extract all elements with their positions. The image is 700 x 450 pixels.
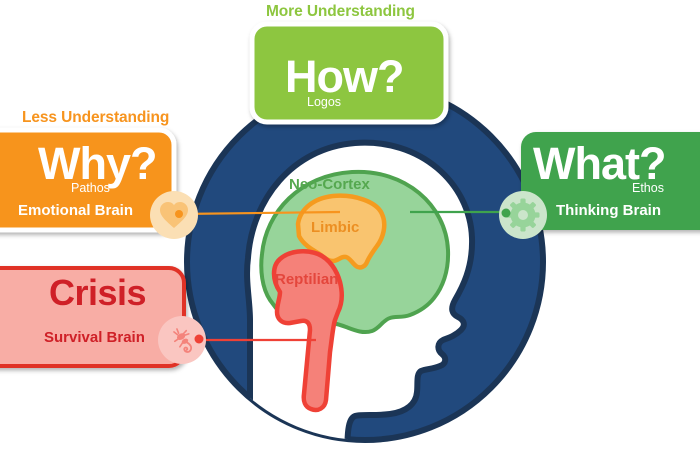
caption-more-understanding: More Understanding [266, 4, 415, 20]
lizard-icon [158, 316, 206, 364]
what-role-label: Thinking Brain [556, 203, 661, 218]
caption-less-understanding: Less Understanding [22, 110, 169, 126]
how-appeal-label: Logos [307, 96, 341, 109]
what-question-label: What? [533, 141, 665, 186]
why-question-label: Why? [38, 141, 156, 186]
reptilian-label: Reptilian [275, 272, 338, 287]
how-question-label: How? [285, 54, 403, 99]
crisis-role-label: Survival Brain [44, 330, 145, 345]
crisis-question-label: Crisis [49, 275, 146, 311]
diagram-canvas: More Understanding Less Understanding Ho… [0, 0, 700, 450]
limbic-label: Limbic [311, 220, 359, 235]
heart-icon [150, 191, 198, 239]
gear-icon [499, 191, 547, 239]
neocortex-label: Neo-Cortex [289, 177, 370, 192]
why-role-label: Emotional Brain [18, 203, 133, 218]
why-appeal-label: Pathos [71, 182, 110, 195]
what-appeal-label: Ethos [632, 182, 664, 195]
